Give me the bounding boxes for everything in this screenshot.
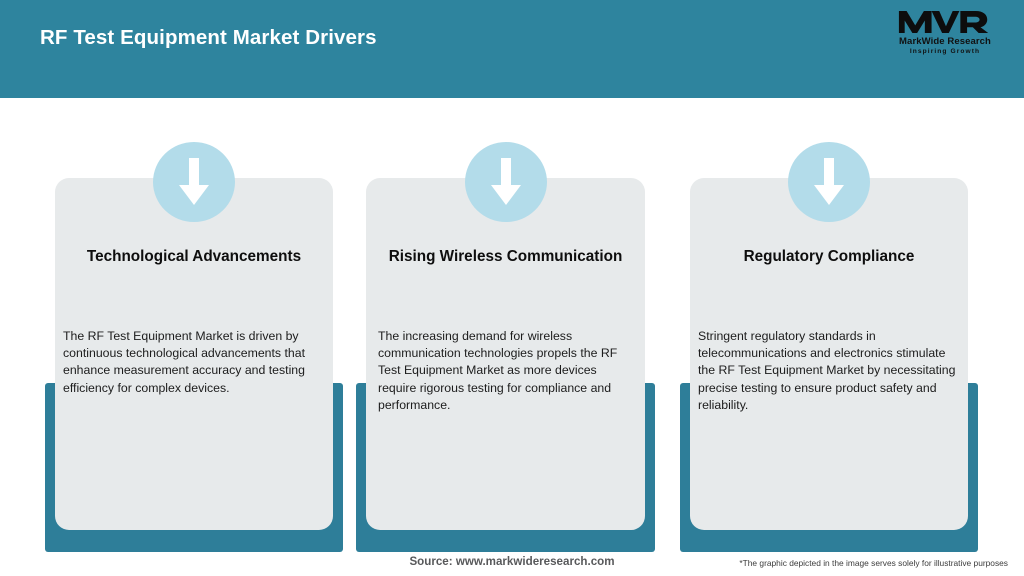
card-title: Regulatory Compliance (700, 246, 958, 268)
card-surface: Regulatory Compliance Stringent regulato… (690, 178, 968, 530)
logo-company-name: MarkWide Research (884, 36, 1006, 47)
page-title: RF Test Equipment Market Drivers (40, 26, 377, 50)
card-body-text: Stringent regulatory standards in teleco… (690, 328, 968, 414)
mwr-logo-icon (897, 8, 993, 35)
card-title: Technological Advancements (65, 246, 323, 268)
disclaimer-label: *The graphic depicted in the image serve… (739, 558, 1008, 568)
logo-tagline: Inspiring Growth (884, 47, 1006, 56)
card-body-text: The increasing demand for wireless commu… (366, 328, 645, 414)
card-title: Rising Wireless Communication (376, 246, 635, 268)
card-surface: Rising Wireless Communication The increa… (366, 178, 645, 530)
card-body-text: The RF Test Equipment Market is driven b… (55, 328, 333, 397)
arrow-down-icon (788, 142, 870, 222)
brand-logo: MarkWide Research Inspiring Growth (884, 8, 1006, 64)
arrow-down-icon (465, 142, 547, 222)
arrow-down-icon (153, 142, 235, 222)
card-surface: Technological Advancements The RF Test E… (55, 178, 333, 530)
header-bar: RF Test Equipment Market Drivers MarkWid… (0, 0, 1024, 98)
